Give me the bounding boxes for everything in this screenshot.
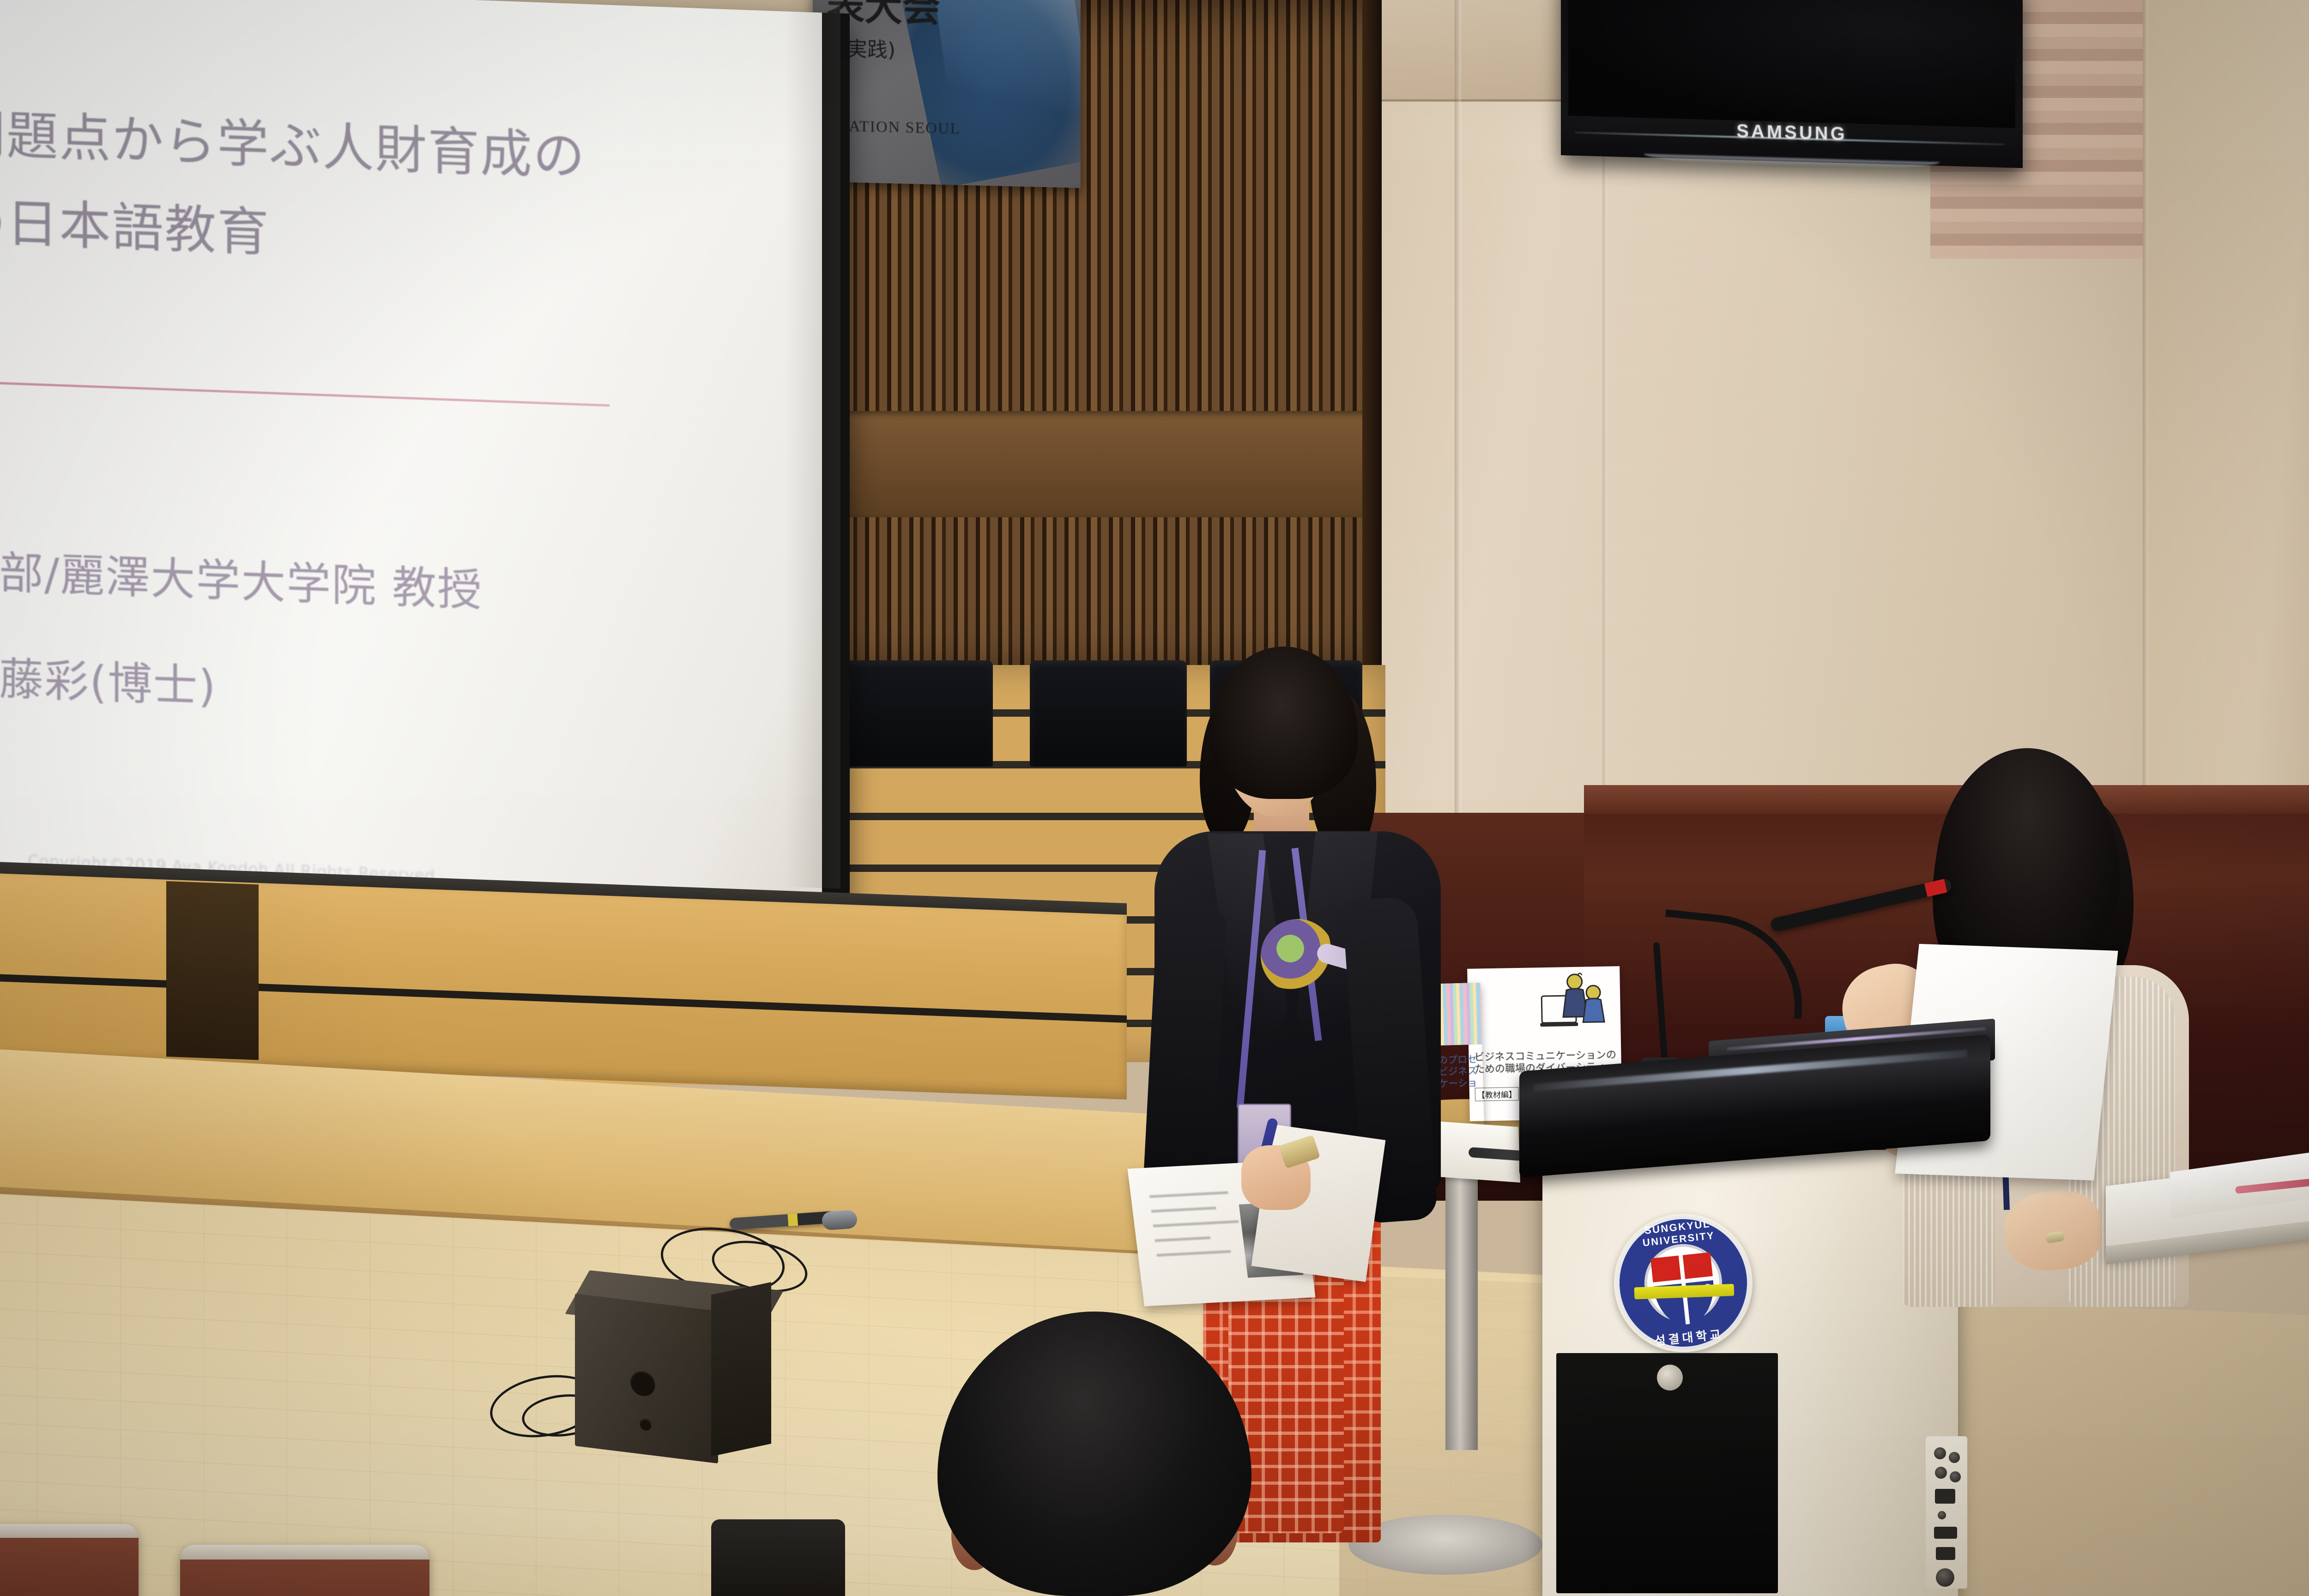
projection-screen-surface: 問題点から学ぶ人財育成の の日本語教育 学部/麗澤大学大学院 教授 近藤彩(博士… [0,0,822,918]
speaker-port [630,1370,655,1398]
lectern-av-port-panel[interactable] [1926,1436,1967,1589]
slide-divider-rule [0,381,610,407]
wall-mounted-television: SAMSUNG [1561,0,2023,168]
rca-port[interactable] [1949,1452,1960,1463]
slide-title-line-1: 問題点から学ぶ人財育成の [0,92,586,190]
power-port[interactable] [1936,1568,1954,1587]
screen-shading [785,0,840,889]
rca-port[interactable] [1934,1447,1946,1459]
lecture-hall-photo: 表大会 の実践) NDATION SEOUL 問題点から学ぶ人財育成の の日本語… [0,0,2309,1596]
vga-port[interactable] [1934,1527,1957,1539]
rca-port[interactable] [1935,1467,1947,1479]
speaker-screw [640,1418,652,1431]
acoustic-wall-band [813,411,1381,517]
microphone-head [822,1209,858,1230]
tv-screen [1568,0,2015,128]
floor-monitor-side [711,1282,771,1457]
far-right-wall-panel [2143,0,2309,813]
presenter-hair [1210,647,1358,799]
conference-banner: 表大会 の実践) NDATION SEOUL [813,0,1081,188]
floor-monitor-speaker [575,1294,718,1463]
emblem-ribbon [1634,1284,1735,1300]
acoustic-wall-edge [1362,0,1382,674]
hdmi-port[interactable] [1935,1489,1955,1504]
slide-title-line-2: の日本語教育 [0,180,270,266]
right-wall-upper-trim [1362,0,1593,102]
usb-port[interactable] [1936,1547,1955,1560]
stage-chair [840,660,993,767]
wall-seam [2143,0,2148,808]
university-emblem: SUNGKYUL UNIVERSITY 1962 성결대학교 [1607,1207,1759,1359]
lectern-knob[interactable] [1657,1365,1683,1390]
bag-on-chair [711,1519,845,1596]
slide-affiliation: 学部/麗澤大学大学院 教授 [0,535,483,619]
audience-chair-rim [0,1524,139,1538]
slide-presenter-name: 近藤彩(博士) [0,641,217,715]
audio-jack-port[interactable] [1938,1511,1946,1519]
audience-chair-rim [180,1545,429,1560]
stage-riser-recess [166,881,259,1060]
rca-port[interactable] [1950,1471,1961,1482]
speaker-hair [1935,748,2120,965]
book-cover-illustration-icon [1538,971,1618,1041]
